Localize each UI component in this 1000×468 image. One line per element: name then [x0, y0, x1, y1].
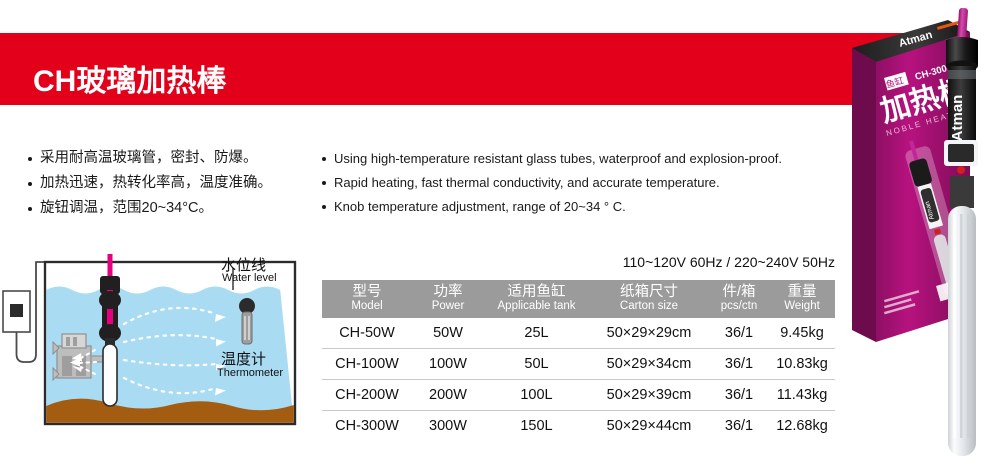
- cell-weight: 9.45kg: [769, 318, 835, 349]
- table-row: CH-100W 100W 50L 50×29×34cm 36/1 10.83kg: [322, 349, 835, 380]
- water-level-label-en: Water level: [222, 272, 277, 284]
- column-header-applicable-tank: 适用鱼缸 Applicable tank: [484, 280, 589, 318]
- feature-item-en: Knob temperature adjustment, range of 20…: [322, 195, 782, 219]
- cell-carton-size: 50×29×29cm: [589, 318, 709, 349]
- table-row: CH-200W 200W 100L 50×29×39cm 36/1 11.43k…: [322, 380, 835, 411]
- feature-item-cn: 旋钮调温，范围20~34°C。: [28, 196, 272, 221]
- cell-model: CH-300W: [322, 411, 412, 442]
- cell-carton-size: 50×29×34cm: [589, 349, 709, 380]
- feature-item-en: Using high-temperature resistant glass t…: [322, 147, 782, 171]
- column-header-power: 功率 Power: [412, 280, 484, 318]
- cell-model: CH-200W: [322, 380, 412, 411]
- cell-applicable-tank: 50L: [484, 349, 589, 380]
- cell-weight: 12.68kg: [769, 411, 835, 442]
- heater-in-tank: [99, 254, 121, 406]
- cell-applicable-tank: 100L: [484, 380, 589, 411]
- feature-item-cn: 采用耐高温玻璃管，密封、防爆。: [28, 146, 272, 171]
- cell-model: CH-100W: [322, 349, 412, 380]
- aquarium-illustration: 水位线 Water level 温度计 Thermometer: [0, 250, 320, 440]
- thermometer-label-en: Thermometer: [217, 367, 283, 379]
- cell-power: 100W: [412, 349, 484, 380]
- page-title-en: CH GLASS HEATER: [34, 104, 213, 120]
- cell-power: 300W: [412, 411, 484, 442]
- column-header-carton-size: 纸箱尺寸 Carton size: [589, 280, 709, 318]
- feature-list-en: Using high-temperature resistant glass t…: [322, 147, 782, 219]
- page-title-cn: CH玻璃加热棒: [33, 67, 226, 97]
- table-row: CH-300W 300W 150L 50×29×44cm 36/1 12.68k…: [322, 411, 835, 442]
- column-header-model: 型号 Model: [322, 280, 412, 318]
- cell-weight: 10.83kg: [769, 349, 835, 380]
- power-outlet-icon: [3, 291, 30, 332]
- cell-weight: 11.43kg: [769, 380, 835, 411]
- cell-pcs-per-ctn: 36/1: [709, 380, 769, 411]
- product-spec-sheet: CH玻璃加热棒 CH GLASS HEATER 采用耐高温玻璃管，密封、防爆。 …: [0, 0, 1000, 468]
- feature-item-cn: 加热迅速，热转化率高，温度准确。: [28, 171, 272, 196]
- voltage-note: 110~120V 60Hz / 220~240V 50Hz: [322, 254, 835, 270]
- heater-brand: Atman: [949, 95, 966, 142]
- header-banner: CH玻璃加热棒 CH GLASS HEATER: [0, 33, 945, 105]
- table-row: CH-50W 50W 25L 50×29×29cm 36/1 9.45kg: [322, 318, 835, 349]
- cell-pcs-per-ctn: 36/1: [709, 318, 769, 349]
- cell-power: 50W: [412, 318, 484, 349]
- feature-list-cn: 采用耐高温玻璃管，密封、防爆。 加热迅速，热转化率高，温度准确。 旋钮调温，范围…: [28, 146, 272, 221]
- cell-applicable-tank: 25L: [484, 318, 589, 349]
- cell-model: CH-50W: [322, 318, 412, 349]
- cell-power: 200W: [412, 380, 484, 411]
- heater-indicator-light: [957, 166, 965, 174]
- table-header-row: 型号 Model 功率 Power 适用鱼缸 Applicable tank 纸…: [322, 280, 835, 318]
- specification-table: 型号 Model 功率 Power 适用鱼缸 Applicable tank 纸…: [322, 280, 835, 441]
- feature-item-en: Rapid heating, fast thermal conductivity…: [322, 171, 782, 195]
- cell-applicable-tank: 150L: [484, 411, 589, 442]
- cell-carton-size: 50×29×44cm: [589, 411, 709, 442]
- product-photo: Atman 鱼缸 CH-300W 加热棒 NOBLE HEATER: [840, 0, 1000, 468]
- column-header-pcs-per-ctn: 件/箱 pcs/ctn: [709, 280, 769, 318]
- cell-pcs-per-ctn: 36/1: [709, 411, 769, 442]
- thermometer-label-cn: 温度计: [221, 348, 266, 369]
- heater-product: Atman: [944, 8, 978, 456]
- column-header-weight: 重量 Weight: [769, 280, 835, 318]
- cell-pcs-per-ctn: 36/1: [709, 349, 769, 380]
- cell-carton-size: 50×29×39cm: [589, 380, 709, 411]
